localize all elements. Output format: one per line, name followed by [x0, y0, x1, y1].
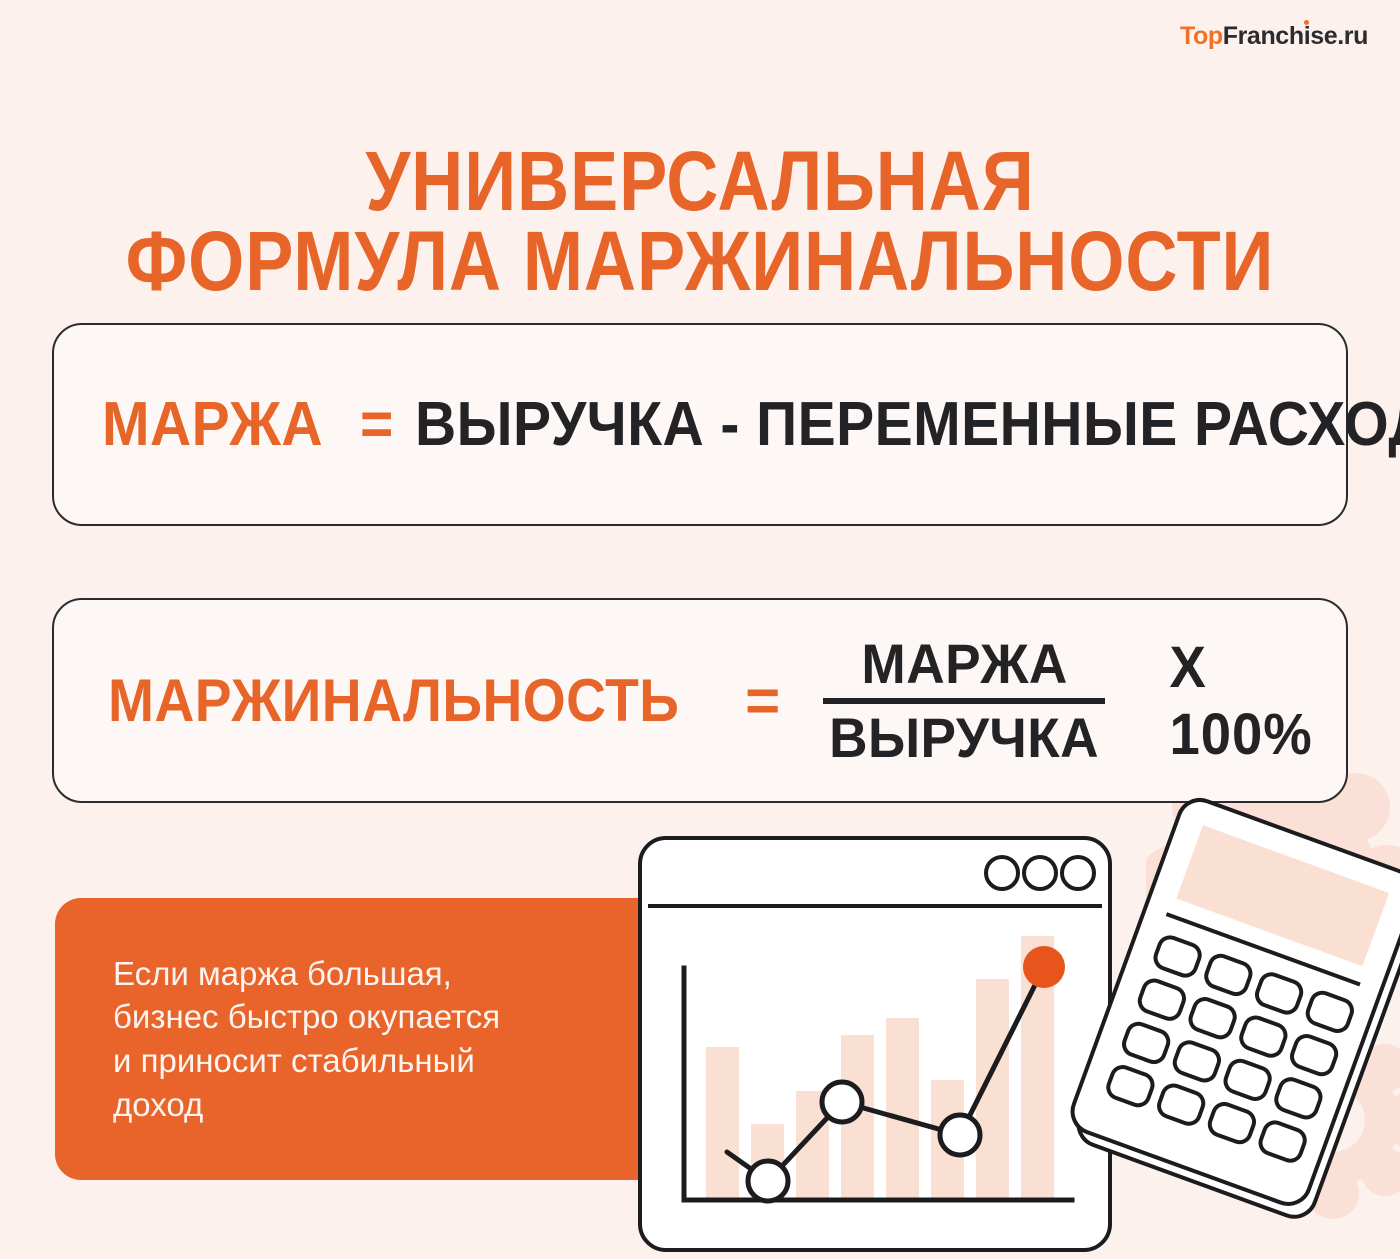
formula-multiplier: Х 100% — [1170, 634, 1341, 768]
page-title-line-1: УНИВЕРСАЛЬНАЯ — [98, 142, 1302, 222]
logo-tld-text: .ru — [1337, 22, 1368, 50]
formula-margin-term: МАРЖА — [102, 389, 323, 460]
formula-margin-row: МАРЖА = ВЫРУЧКА - ПЕРЕМЕННЫЕ РАСХОДЫ — [54, 389, 1400, 460]
formula-marginality-row: МАРЖИНАЛЬНОСТЬ = МАРЖА ВЫРУЧКА Х 100% — [54, 634, 1346, 768]
fraction-denominator: ВЫРУЧКА — [829, 710, 1099, 766]
note-text: Если маржа большая, бизнес быстро окупае… — [55, 952, 526, 1126]
calculator-illustration — [1063, 794, 1400, 1223]
formula-margin-equals: = — [360, 389, 394, 460]
logo-franchise-text: Franchise — [1223, 22, 1338, 50]
site-logo[interactable]: TopFranchise.ru — [1180, 24, 1368, 49]
formula-fraction: МАРЖА ВЫРУЧКА — [822, 636, 1106, 766]
note-callout-box: Если маржа большая, бизнес быстро окупае… — [55, 898, 645, 1180]
illustration-chart-calculator — [620, 790, 1400, 1259]
page-title: УНИВЕРСАЛЬНАЯ ФОРМУЛА МАРЖИНАЛЬНОСТИ — [98, 142, 1302, 302]
formula-marginality-term: МАРЖИНАЛЬНОСТЬ — [108, 666, 679, 735]
formula-box-margin: МАРЖА = ВЫРУЧКА - ПЕРЕМЕННЫЕ РАСХОДЫ — [52, 323, 1348, 526]
formula-marginality-equals: = — [745, 666, 780, 735]
infographic-page: TopFranchise.ru УНИВЕРСАЛЬНАЯ ФОРМУЛА МА… — [0, 0, 1400, 1259]
page-title-line-2: ФОРМУЛА МАРЖИНАЛЬНОСТИ — [98, 222, 1302, 302]
fraction-numerator: МАРЖА — [861, 636, 1067, 692]
fraction-bar — [823, 698, 1105, 704]
formula-margin-expression: ВЫРУЧКА - ПЕРЕМЕННЫЕ РАСХОДЫ — [415, 389, 1400, 460]
logo-top-text: Top — [1180, 22, 1223, 50]
logo-accent-dot-icon — [1304, 20, 1309, 25]
formula-box-marginality: МАРЖИНАЛЬНОСТЬ = МАРЖА ВЫРУЧКА Х 100% — [52, 598, 1348, 803]
